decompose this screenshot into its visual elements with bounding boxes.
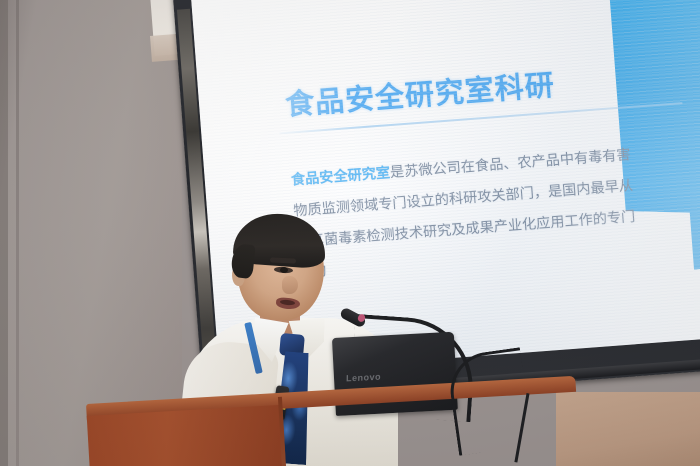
wall-panel-seam xyxy=(16,0,19,466)
left-wall xyxy=(0,0,182,466)
podium-front-left xyxy=(87,405,287,466)
speaker-pupil xyxy=(280,267,288,273)
laptop-brand-logo: Lenovo xyxy=(346,372,381,384)
microphone-cable-secondary xyxy=(514,393,588,466)
speaker-nose xyxy=(282,276,298,294)
slide-body-lead: 食品安全研究室 xyxy=(290,165,390,188)
wall-corner-shadow xyxy=(0,0,8,466)
presentation-photo-scene: 食品安全研究室科研 食品安全研究室是苏微公司在食品、农产品中有毒有害 物质监测领… xyxy=(0,0,700,466)
